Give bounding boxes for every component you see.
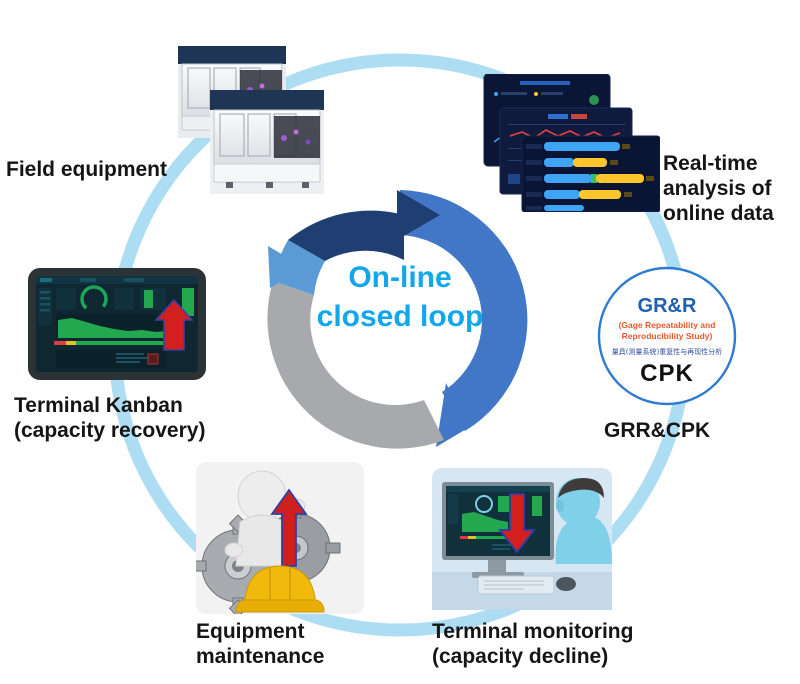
label-equipment-maintenance: Equipment maintenance	[196, 620, 324, 670]
label-grr-cpk: GRR&CPK	[604, 419, 710, 444]
label-field-equipment: Field equipment	[6, 158, 167, 183]
equipment-photo-front	[210, 90, 324, 194]
terminal-monitoring-image	[432, 468, 612, 610]
label-terminal-monitoring: Terminal monitoring (capacity decline)	[432, 620, 633, 670]
field-equipment-image	[178, 46, 324, 194]
grr-chinese-text: 量具(测量系统)重复性与再现性分析	[612, 347, 722, 356]
keyboard	[478, 576, 554, 594]
grr-cpk-circle-image: GR&R (Gage Repeatability and Reproducibi…	[596, 266, 738, 406]
center-label-line2: closed loop	[300, 297, 500, 336]
grr-subtitle-line2: Reproducibility Study)	[622, 331, 713, 341]
center-label-line1: On-line	[300, 258, 500, 297]
center-label: On-line closed loop	[300, 258, 500, 336]
realtime-dashboard-image	[474, 74, 660, 212]
label-terminal-kanban: Terminal Kanban (capacity recovery)	[14, 394, 205, 444]
grr-heading: GR&R	[638, 295, 697, 317]
terminal-kanban-image	[28, 268, 206, 380]
grr-subtitle-line1: (Gage Repeatability and	[619, 320, 716, 330]
label-realtime-analysis: Real-time analysis of online data	[663, 152, 774, 226]
cpk-label: CPK	[640, 360, 694, 387]
equipment-maintenance-image	[196, 462, 364, 614]
dashboard-panel-front	[522, 136, 660, 212]
mouse	[556, 577, 576, 591]
